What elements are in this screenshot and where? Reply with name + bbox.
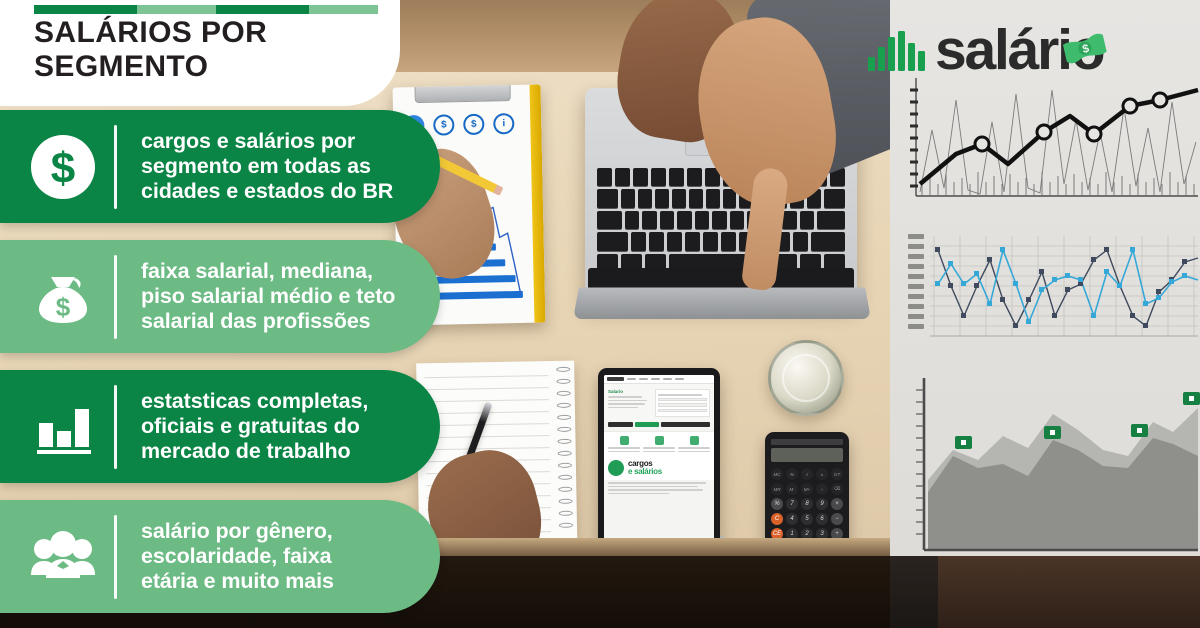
- poster-floor-strip: [890, 556, 1200, 628]
- tablet-cta-buttons: [604, 422, 714, 431]
- feature-row-genero-escolaridade[interactable]: salário por gênero, escolaridade, faixa …: [0, 500, 440, 613]
- title-bar-segment: [309, 5, 378, 14]
- feature-row-estatisticas[interactable]: estatsticas completas, oficiais e gratui…: [0, 370, 440, 483]
- trend-line-chart: [898, 72, 1200, 212]
- feature-text: faixa salarial, mediana, piso salarial m…: [141, 259, 395, 334]
- money-bag-icon: $: [26, 260, 100, 334]
- title-bar-segment: [34, 5, 137, 14]
- title-panel: SALÁRIOS POR SEGMENTO: [0, 0, 400, 106]
- feature-line: cargos e salários por: [141, 129, 393, 154]
- feature-line: oficiais e gratuitas do: [141, 414, 368, 439]
- tablet-article-icon: [608, 460, 624, 476]
- tablet-site-title: Salario: [608, 389, 651, 394]
- dual-series-grid-chart: [898, 228, 1200, 353]
- info-icon: i: [493, 113, 514, 134]
- feature-line: salário por gênero,: [141, 519, 334, 544]
- dollar-icon: $: [463, 114, 484, 135]
- svg-text:$: $: [51, 144, 75, 193]
- audio-bars-icon: [868, 31, 925, 71]
- feature-line: segmento em todas as: [141, 154, 393, 179]
- brand-logo[interactable]: salário $: [868, 22, 1103, 79]
- feature-line: mercado de trabalho: [141, 439, 368, 464]
- tablet-hero-section: Salario: [604, 384, 714, 422]
- tablet-article-block: cargos e salários: [604, 456, 714, 480]
- feature-line: escolaridade, faixa: [141, 544, 334, 569]
- calculator-display: [771, 448, 843, 462]
- feature-text: estatsticas completas, oficiais e gratui…: [141, 389, 368, 464]
- clipboard-clip: [414, 84, 511, 103]
- calculator-solar-panel: [771, 439, 843, 445]
- feature-row-faixa-salarial[interactable]: $ faixa salarial, mediana, piso salarial…: [0, 240, 440, 353]
- feature-text: salário por gênero, escolaridade, faixa …: [141, 519, 334, 594]
- logo-wordmark: salário $: [935, 22, 1103, 79]
- feature-list: $ cargos e salários por segmento em toda…: [0, 110, 440, 613]
- page-title: SALÁRIOS POR SEGMENTO: [34, 16, 400, 84]
- row-divider: [114, 385, 117, 469]
- feature-line: piso salarial médio e teto: [141, 284, 395, 309]
- laptop-lid: [573, 288, 871, 320]
- people-group-icon: [26, 520, 100, 594]
- feature-row-cargos-salarios[interactable]: $ cargos e salários por segmento em toda…: [0, 110, 440, 223]
- feature-line: faixa salarial, mediana,: [141, 259, 395, 284]
- tablet-site-logo: [607, 377, 624, 381]
- feature-line: estatsticas completas,: [141, 389, 368, 414]
- tablet-search-form: [655, 389, 710, 417]
- drinking-glass: [768, 340, 844, 416]
- feature-line: cidades e estados do BR: [141, 179, 393, 204]
- title-accent-bar: [34, 5, 378, 14]
- charts-poster-panel: [890, 0, 1200, 556]
- notebook-spiral-rings: [556, 367, 573, 528]
- title-bar-segment: [216, 5, 309, 14]
- poster-canvas: $ $ i: [0, 0, 1200, 628]
- stacked-area-chart: [898, 368, 1200, 553]
- title-bar-segment: [137, 5, 216, 14]
- tablet-article-heading-line2: e salários: [628, 468, 662, 476]
- dollar-circle-icon: $: [26, 130, 100, 204]
- svg-text:$: $: [56, 292, 71, 322]
- row-divider: [114, 125, 117, 209]
- tablet-screen: Salario: [604, 375, 714, 561]
- feature-line: etária e muito mais: [141, 569, 334, 594]
- bar-chart-icon: [26, 390, 100, 464]
- feature-line: salarial das profissões: [141, 309, 395, 334]
- row-divider: [114, 255, 117, 339]
- tablet-feature-cards: [604, 431, 714, 456]
- tablet-site-navbar: [604, 375, 714, 384]
- feature-text: cargos e salários por segmento em todas …: [141, 129, 393, 204]
- row-divider: [114, 515, 117, 599]
